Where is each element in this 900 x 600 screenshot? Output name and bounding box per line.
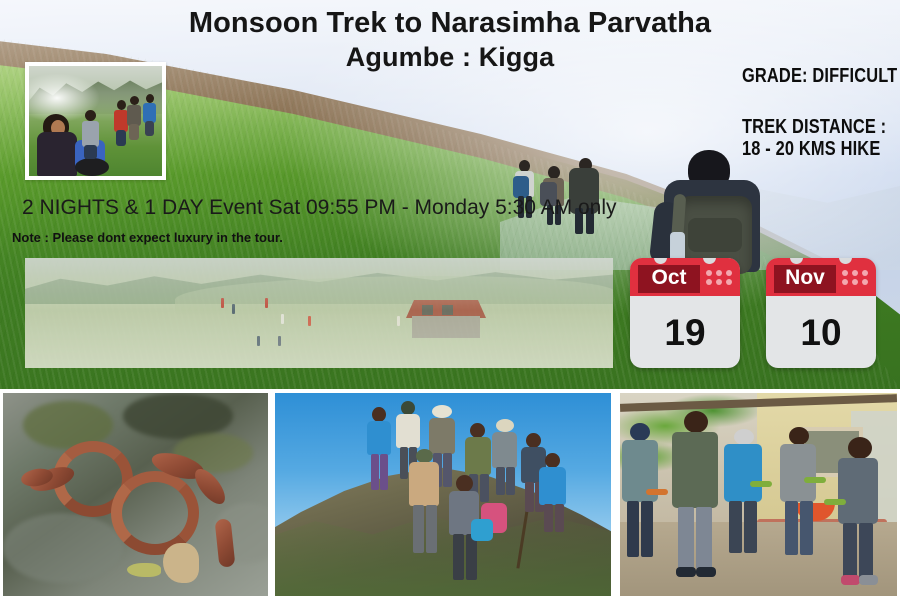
eating-person [724,429,764,561]
dry-leaf [127,563,161,577]
panorama-meadow-photo [25,258,613,368]
event-schedule-text: 2 NIGHTS & 1 DAY Event Sat 09:55 PM - Mo… [22,196,617,220]
inset-photo-trekkers [25,62,166,180]
bottom-photo-summit-group [275,393,611,596]
eating-person [836,437,880,587]
calendar-day-number: 10 [766,296,876,368]
foreground-trekker [648,150,776,275]
eating-person [672,411,720,579]
panorama-haze [25,258,613,368]
summit-person [407,449,441,555]
eating-person [622,423,660,563]
banana-leaf-plate [646,489,668,495]
summit-person [365,407,393,493]
calendar-day-number: 19 [630,296,740,368]
summit-person [491,419,519,493]
inset-tyre-tube [75,158,109,176]
summit-person [537,453,567,529]
calendar-dots-icon [706,270,733,289]
trek-distance-line-2: 18 - 20 KMS HIKE [742,138,886,160]
eating-person [780,427,818,563]
grade-label: GRADE: DIFFICULT [742,65,897,88]
calendar-month-label: Oct [638,264,700,292]
calendar-month-label: Nov [774,264,836,292]
note-text: Note : Please dont expect luxury in the … [12,230,283,245]
bottom-photo-food-stop [620,393,897,596]
banana-leaf-plate [750,481,772,487]
dry-leaf [163,543,199,583]
inset-photo-image [29,66,162,176]
inset-person [81,110,99,158]
trek-poster: Monsoon Trek to Narasimha Parvatha Agumb… [0,0,900,600]
inset-person [143,94,157,136]
calendar-date-1: Oct 19 [630,258,740,368]
page-title: Monsoon Trek to Narasimha Parvatha Agumb… [0,6,900,74]
calendar-date-2: Nov 10 [766,258,876,368]
calendar-dots-icon [842,270,869,289]
hero-background-photo: Monsoon Trek to Narasimha Parvatha Agumb… [0,0,900,389]
banana-leaf-plate [804,477,826,483]
bottom-photo-snake [3,393,268,596]
trek-distance-line-1: TREK DISTANCE : [742,116,886,138]
moss-patch [3,513,123,583]
summit-bag [471,519,493,541]
banana-leaf-plate [824,499,846,505]
inset-person [127,96,142,140]
inset-person-body [37,132,77,176]
trek-distance-label: TREK DISTANCE : 18 - 20 KMS HIKE [742,116,886,160]
title-line-1: Monsoon Trek to Narasimha Parvatha [0,6,900,40]
